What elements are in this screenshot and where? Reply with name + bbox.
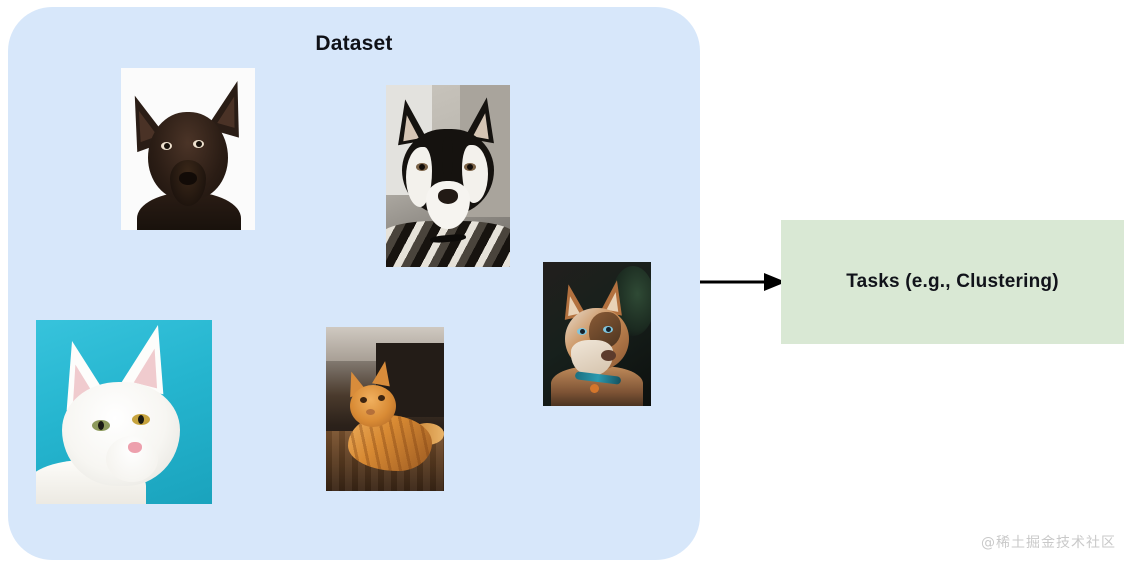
white-cat-eye-left xyxy=(92,420,110,431)
copper-husky-collar-tag xyxy=(590,384,599,393)
flow-arrow-icon xyxy=(698,268,786,296)
copper-husky-photo xyxy=(543,262,651,406)
orange-cat-head xyxy=(350,385,396,427)
white-cat-eye-right xyxy=(132,414,150,425)
orange-cat-eye-right xyxy=(378,395,385,401)
orange-cat-front-leg-right xyxy=(379,447,395,488)
orange-cat-photo xyxy=(326,327,444,491)
black-dog-scene xyxy=(121,68,255,230)
white-cat-nose xyxy=(128,442,142,453)
orange-cat-scene xyxy=(326,327,444,491)
copper-husky-eye-left xyxy=(577,328,587,335)
copper-husky-scene xyxy=(543,262,651,406)
dataset-title: Dataset xyxy=(8,32,700,56)
husky-forehead-blaze xyxy=(442,137,453,177)
husky-eye-right xyxy=(464,163,476,171)
dog-nose xyxy=(179,172,197,185)
husky-eye-left xyxy=(416,163,428,171)
copper-husky-nose xyxy=(601,350,616,361)
dataset-panel: Dataset xyxy=(8,7,700,560)
black-white-husky-photo xyxy=(386,85,510,267)
white-cat-photo xyxy=(36,320,212,504)
watermark: @稀土掘金技术社区 xyxy=(981,532,1116,552)
tasks-box: Tasks (e.g., Clustering) xyxy=(781,220,1124,344)
dog-eye-left xyxy=(161,142,172,150)
tasks-box-label: Tasks (e.g., Clustering) xyxy=(846,271,1058,293)
white-cat-scene xyxy=(36,320,212,504)
copper-husky-eye-right xyxy=(603,326,613,333)
husky-scene xyxy=(386,85,510,267)
orange-cat-eye-left xyxy=(360,397,367,403)
dog-eye-right xyxy=(193,140,204,148)
orange-cat-nose xyxy=(366,409,375,415)
husky-nose xyxy=(438,189,458,204)
black-dog-photo xyxy=(121,68,255,230)
